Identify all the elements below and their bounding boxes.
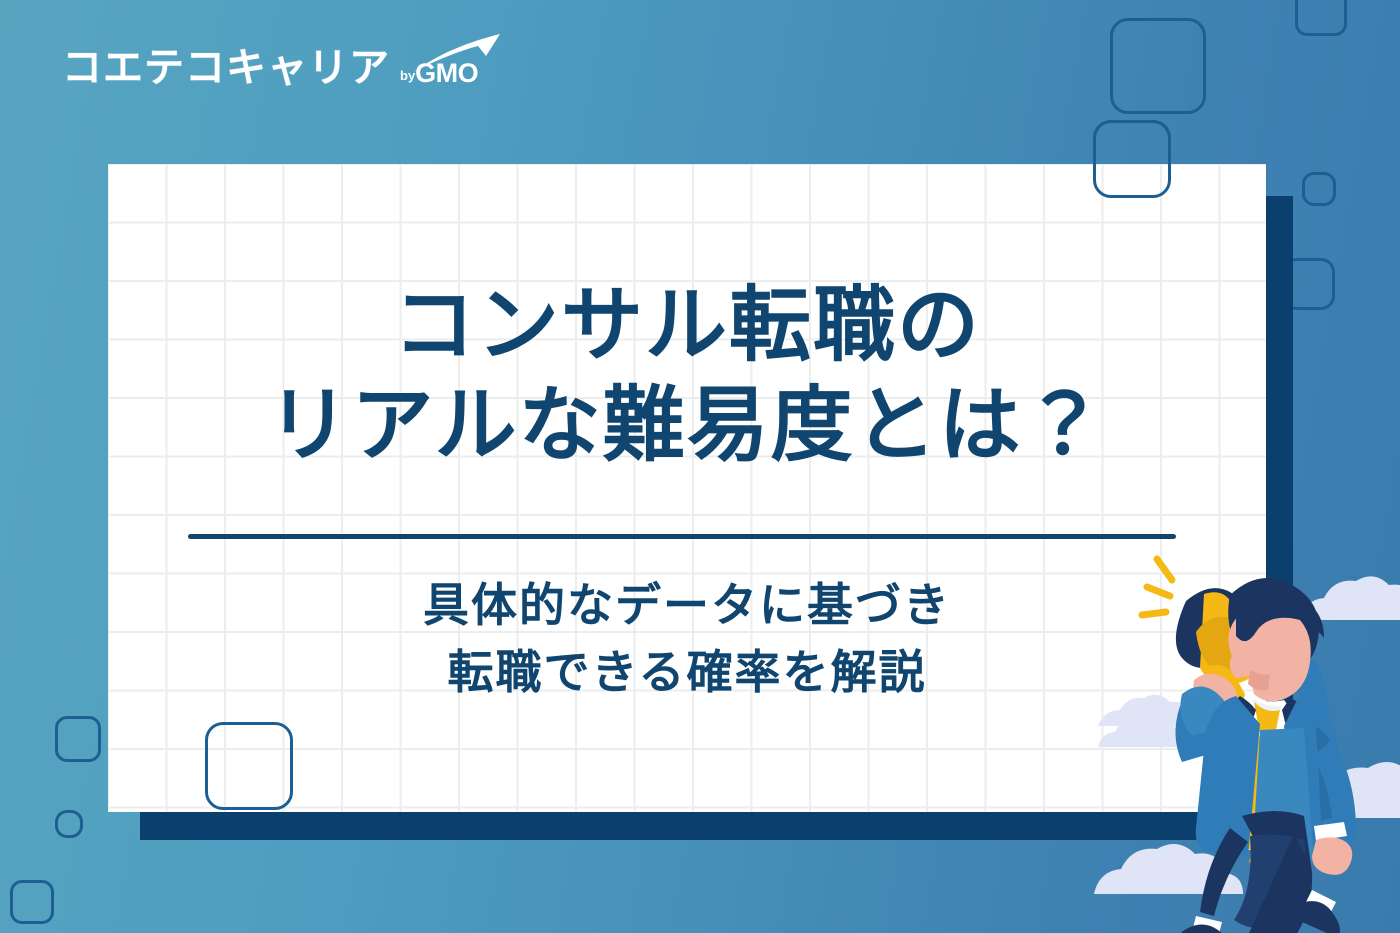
decorative-rounded-square xyxy=(1110,18,1206,114)
decorative-rounded-square xyxy=(10,880,54,924)
decorative-rounded-square xyxy=(1295,0,1347,36)
content-card: コンサル転職の リアルな難易度とは？ 具体的なデータに基づき 転職できる確率を解… xyxy=(108,164,1266,812)
subheadline-line-1: 具体的なデータに基づき xyxy=(108,572,1266,639)
site-logo[interactable]: コエテコキャリアbyGMO xyxy=(62,48,478,88)
grid-pattern xyxy=(108,164,1266,812)
headline-line-1: コンサル転職の xyxy=(108,276,1266,376)
card-cloud-decoration xyxy=(108,164,1266,812)
subheadline-group: 具体的なデータに基づき 転職できる確率を解説 xyxy=(108,572,1266,705)
decorative-rounded-square xyxy=(55,810,83,838)
arrow-swoosh-icon xyxy=(412,32,502,74)
banner-canvas: コンサル転職の リアルな難易度とは？ 具体的なデータに基づき 転職できる確率を解… xyxy=(0,0,1400,933)
decorative-rounded-square xyxy=(1302,172,1336,206)
decorative-rounded-square xyxy=(55,716,101,762)
headline-divider xyxy=(188,534,1176,539)
card-shadow-right xyxy=(1265,196,1293,840)
subheadline-line-2: 転職できる確率を解説 xyxy=(108,639,1266,706)
card-shadow-bottom xyxy=(140,812,1293,840)
headline-line-2: リアルな難易度とは？ xyxy=(108,376,1266,476)
headline-group: コンサル転職の リアルな難易度とは？ xyxy=(108,276,1266,476)
logo-wordmark: コエテコキャリア xyxy=(62,48,390,88)
